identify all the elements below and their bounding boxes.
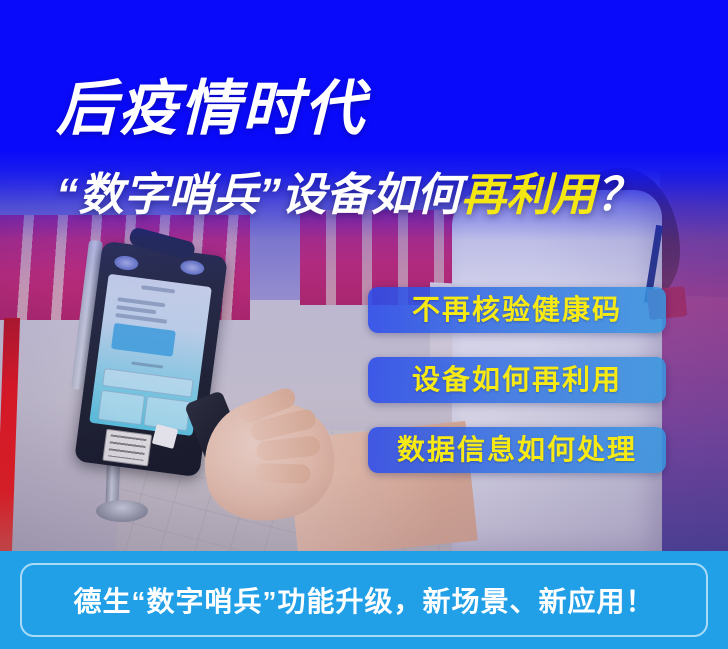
kiosk-label-tag bbox=[152, 424, 178, 449]
kiosk-card-reader bbox=[102, 429, 152, 467]
kiosk-sensor-lens bbox=[179, 259, 205, 276]
topic-pill-3-label: 数据信息如何处理 bbox=[397, 436, 637, 464]
poster-root: 后疫情时代 “数字哨兵”设备如何再利用？ 不再核验健康码 设备如何再利用 数据信… bbox=[0, 0, 728, 649]
topic-pill-2[interactable]: 设备如何再利用 bbox=[368, 357, 666, 403]
topic-pill-list: 不再核验健康码 设备如何再利用 数据信息如何处理 bbox=[368, 287, 668, 497]
kiosk-camera-lens bbox=[114, 254, 140, 271]
topic-pill-1[interactable]: 不再核验健康码 bbox=[368, 287, 666, 333]
bottom-banner-text: 德生“数字哨兵”功能升级，新场景、新应用！ bbox=[73, 580, 654, 620]
bottom-banner-frame: 德生“数字哨兵”功能升级，新场景、新应用！ bbox=[20, 563, 708, 637]
bottom-banner: 德生“数字哨兵”功能升级，新场景、新应用！ bbox=[0, 551, 728, 649]
kiosk-reader-lines bbox=[108, 434, 147, 461]
photo-kiosk-base bbox=[96, 500, 148, 522]
topic-pill-2-label: 设备如何再利用 bbox=[412, 366, 622, 394]
topic-pill-1-label: 不再核验健康码 bbox=[412, 296, 622, 324]
topic-pill-3[interactable]: 数据信息如何处理 bbox=[368, 427, 666, 473]
